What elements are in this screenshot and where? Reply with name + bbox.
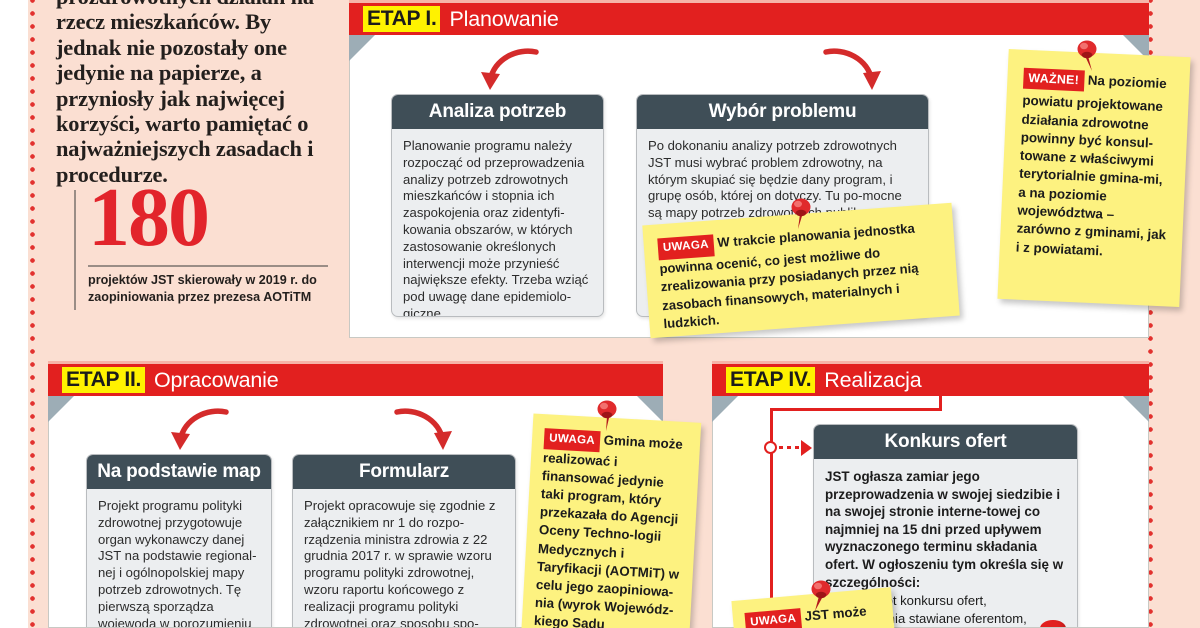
dotted-rule-left <box>30 0 35 628</box>
panel-etap-4: ETAP IV. Realizacja Konkurs ofert JST og… <box>712 361 1149 628</box>
etap-4-fold-corner <box>712 396 738 422</box>
connector-arrowhead <box>801 440 812 456</box>
uwaga-tag: UWAGA <box>744 608 802 628</box>
sticky-note-uwaga-2: UWAGA Gmina może realizować i finansować… <box>521 413 701 628</box>
uwaga-tag: UWAGA <box>657 234 714 260</box>
curved-arrow-icon <box>389 406 469 454</box>
stat-caption: projektów JST skierowały w 2019 r. do za… <box>88 272 332 305</box>
card-na-podstawie-map-body: Projekt programu polityki zdrowotnej prz… <box>87 489 271 628</box>
etap-2-header: ETAP II. Opracowanie <box>48 361 663 396</box>
etap-2-fold-corner <box>48 396 74 422</box>
infographic-page: prozdrowotnych działań na rzecz mieszkań… <box>0 0 1200 628</box>
pushpin-icon <box>806 578 836 612</box>
curved-arrow-icon <box>818 46 898 94</box>
connector-horizontal <box>770 408 942 411</box>
card-na-podstawie-map: Na podstawie map Projekt programu polity… <box>86 454 272 628</box>
card-wybor-problemu-title: Wybór problemu <box>637 95 928 129</box>
card-na-podstawie-map-title: Na podstawie map <box>87 455 271 489</box>
etap-4-body: Konkurs ofert JST ogłasza zamiar jego pr… <box>712 396 1149 628</box>
intro-column: prozdrowotnych działań na rzecz mieszkań… <box>56 0 340 187</box>
card-analiza-potrzeb: Analiza potrzeb Planowanie programu nale… <box>391 94 604 317</box>
card-formularz: Formularz Projekt opracowuje się zgodnie… <box>292 454 516 628</box>
connector-dashed-line <box>779 446 802 449</box>
intro-lead-paragraph: prozdrowotnych działań na rzecz mieszkań… <box>56 0 340 187</box>
etap-1-header: ETAP I. Planowanie <box>349 0 1149 35</box>
etap-1-tag: ETAP I. <box>363 6 440 32</box>
wazne-1-body: Na poziomie powiatu projektowane działan… <box>1015 73 1167 259</box>
etap-4-tag: ETAP IV. <box>726 367 815 393</box>
connector-vertical-top <box>939 396 942 410</box>
etap-4-title: Realizacja <box>824 369 921 391</box>
konkurs-ofert-intro: JST ogłasza zamiar jego przeprowadzenia … <box>825 468 1066 591</box>
card-analiza-potrzeb-body: Planowanie programu należy rozpocząć od … <box>392 129 603 317</box>
stat-number: 180 <box>88 176 208 260</box>
etap-2-tag: ETAP II. <box>62 367 145 393</box>
curved-arrow-icon <box>154 406 234 454</box>
etap-2-fold-corner-right <box>637 396 663 422</box>
pushpin-icon <box>786 196 816 230</box>
card-formularz-body: Projekt opracowuje się zgodnie z załączn… <box>293 489 515 628</box>
card-analiza-potrzeb-title: Analiza potrzeb <box>392 95 603 129</box>
etap-1-fold-corner <box>349 35 375 61</box>
sticky-note-wazne-1-text: WAŻNE! Na poziomie powiatu projektowane … <box>999 49 1190 264</box>
card-konkurs-ofert-title: Konkurs ofert <box>814 425 1077 459</box>
etap-4-fold-corner-right <box>1123 396 1149 422</box>
sticky-note-wazne-1: WAŻNE! Na poziomie powiatu projektowane … <box>997 49 1190 307</box>
stat-vertical-rule <box>74 190 76 310</box>
pushpin-icon <box>1072 38 1102 72</box>
uwaga-2-body: Gmina może realizować i finansować jedyn… <box>531 432 684 628</box>
connector-node <box>764 441 777 454</box>
pushpin-icon <box>592 398 622 432</box>
curved-arrow-icon <box>464 46 544 94</box>
etap-4-header: ETAP IV. Realizacja <box>712 361 1149 396</box>
etap-2-title: Opracowanie <box>154 369 278 391</box>
stat-horizontal-rule <box>88 265 328 267</box>
etap-1-title: Planowanie <box>449 8 558 30</box>
card-formularz-title: Formularz <box>293 455 515 489</box>
sticky-note-uwaga-2-text: UWAGA Gmina może realizować i finansować… <box>518 413 701 628</box>
